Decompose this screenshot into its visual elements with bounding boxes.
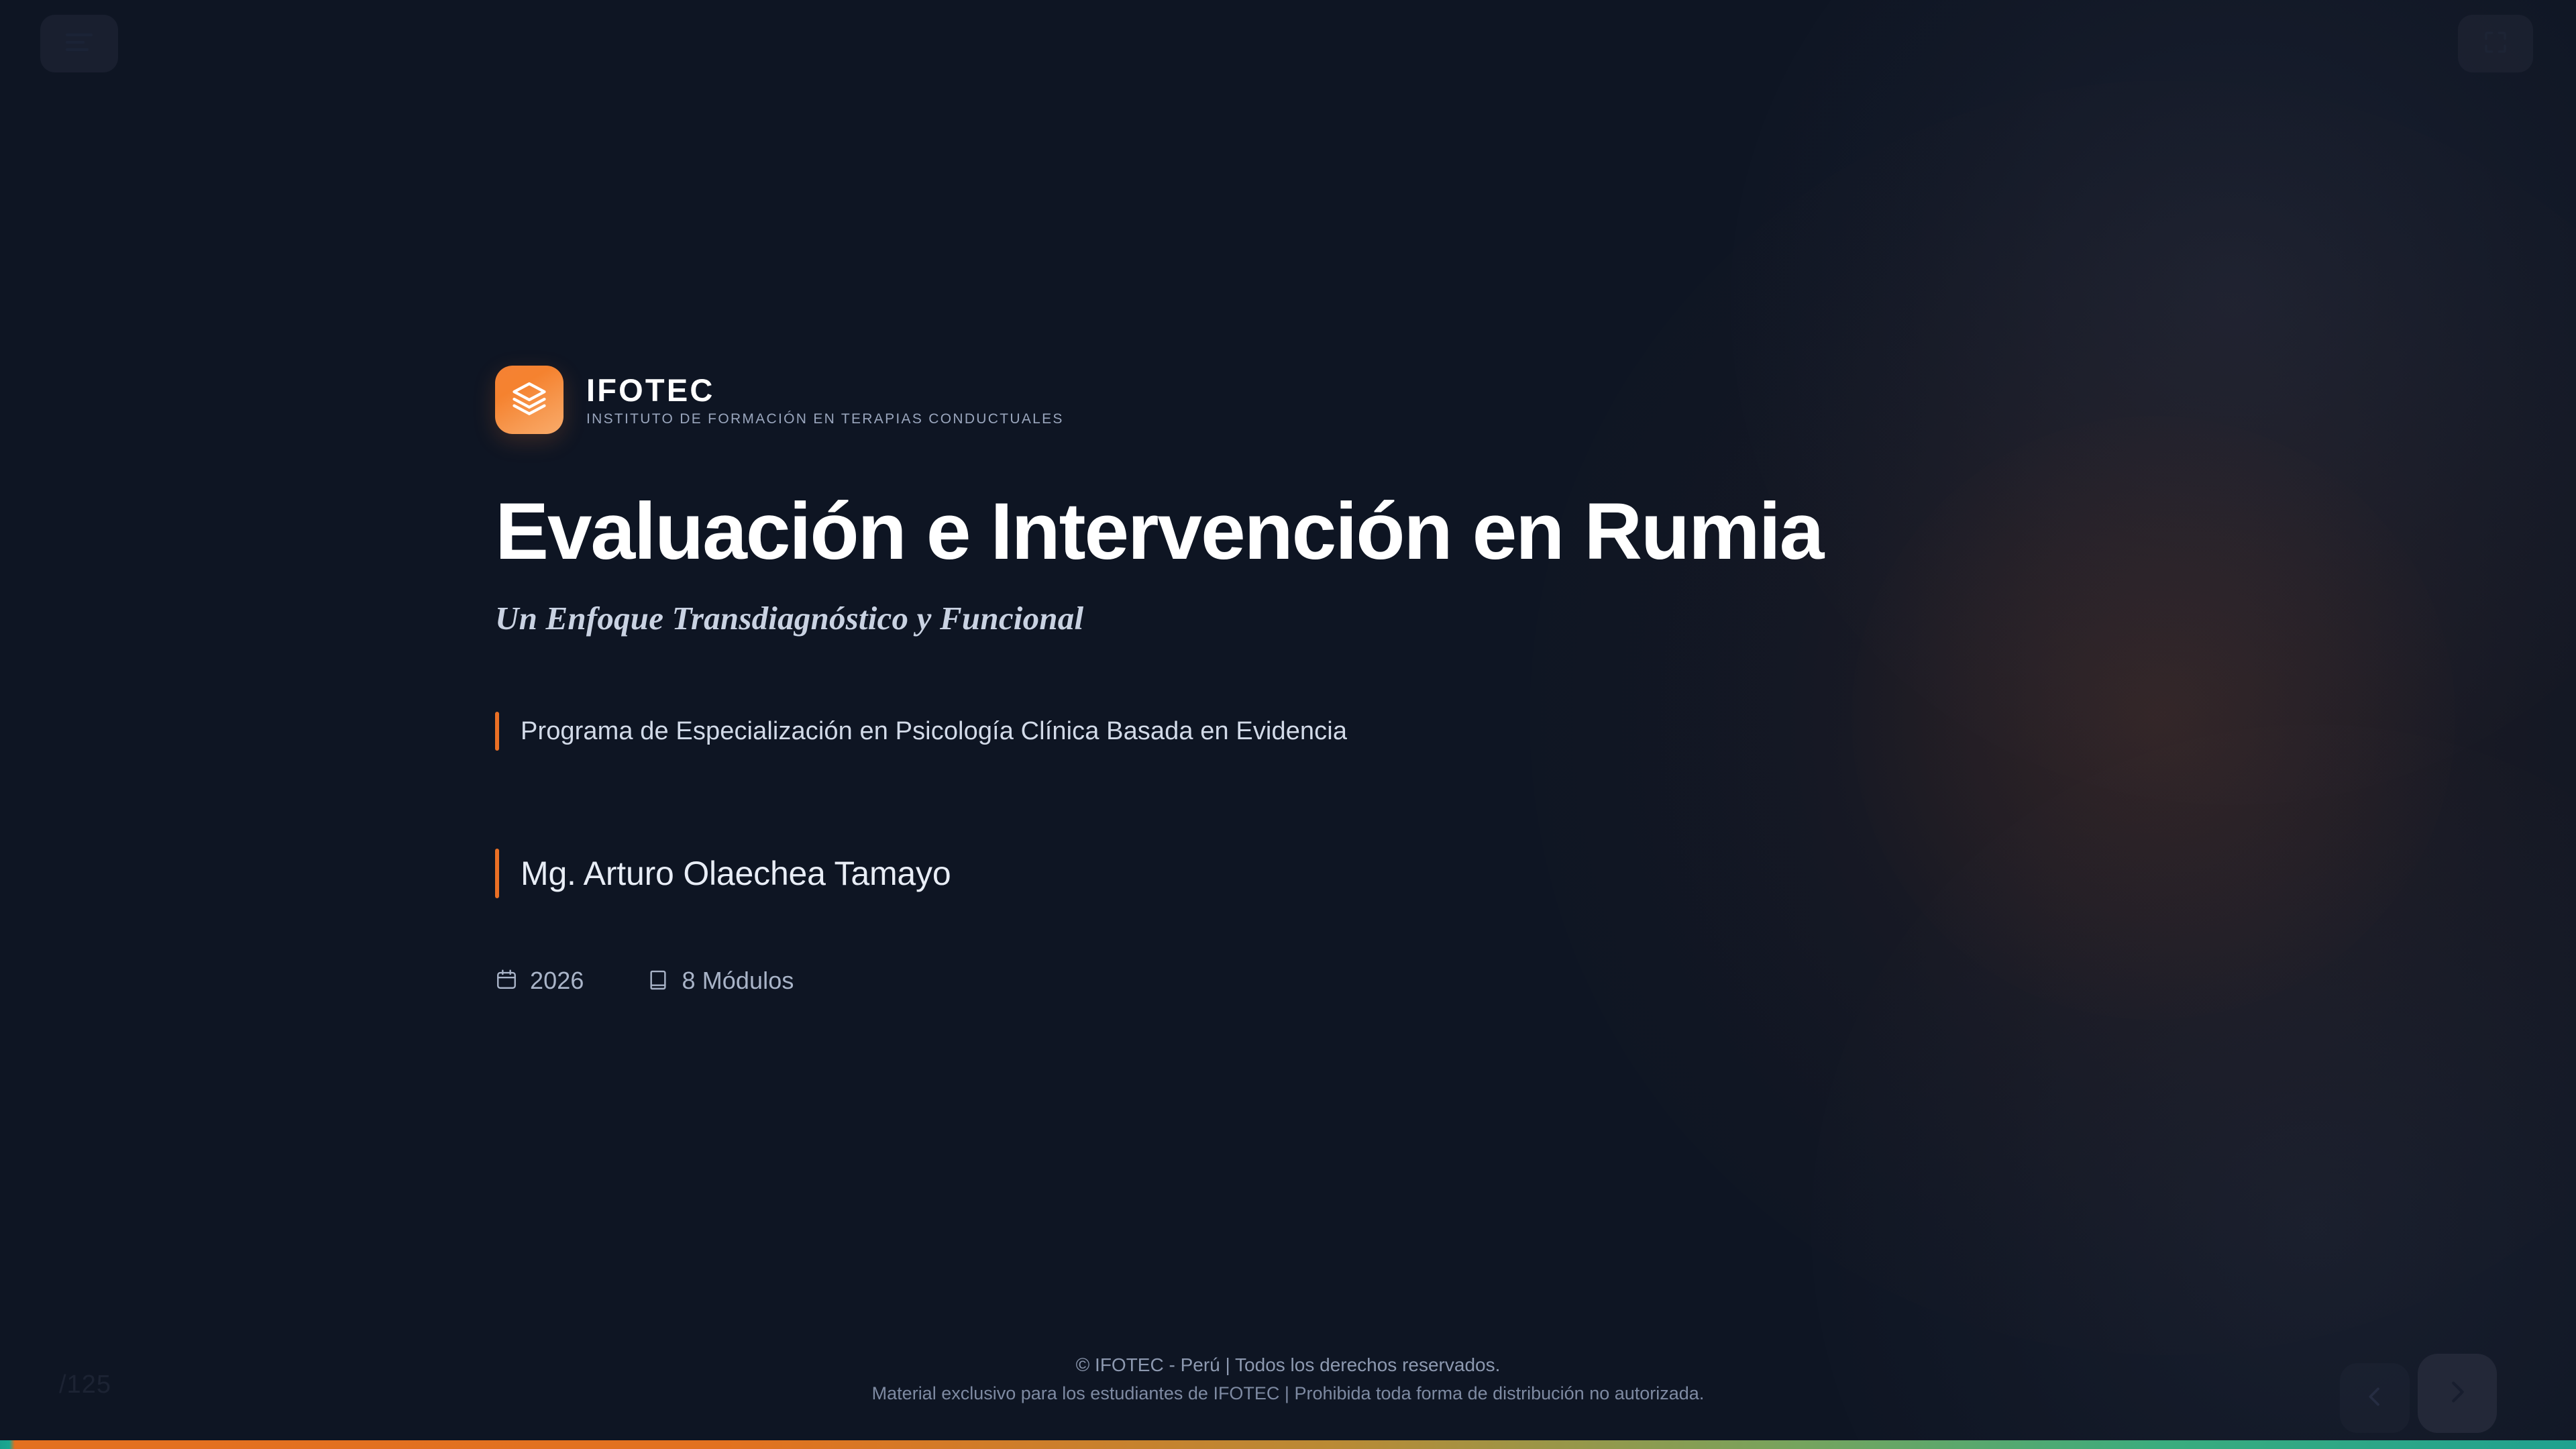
program-label: Programa de Especialización en Psicologí… [521, 717, 1347, 746]
presentation-slide: /125 IFOTEC INSTITUTO DE FORMACIÓN EN T [0, 0, 2576, 1449]
chevron-right-icon [2442, 1377, 2473, 1411]
author-name: Mg. Arturo Olaechea Tamayo [521, 854, 951, 893]
program-text-wrap: Programa de Especialización en Psicologí… [499, 712, 1347, 751]
chevron-left-icon [2361, 1383, 2388, 1413]
layers-icon [509, 378, 549, 422]
meta-item-year: 2026 [495, 967, 584, 995]
slide-title: Evaluación e Intervención en Rumia [495, 490, 1837, 572]
menu-button[interactable] [40, 15, 118, 72]
background-glow-bottom-right [1811, 724, 2576, 1449]
meta-label-year: 2026 [530, 967, 584, 995]
fullscreen-expand-icon [2481, 28, 2510, 60]
brand-tagline: INSTITUTO DE FORMACIÓN EN TERAPIAS CONDU… [586, 412, 1064, 426]
slide-content: IFOTEC INSTITUTO DE FORMACIÓN EN TERAPIA… [495, 366, 1837, 995]
brand-name: IFOTEC [586, 374, 1064, 406]
program-row: Programa de Especialización en Psicologí… [495, 712, 1837, 751]
slide-subtitle: Un Enfoque Transdiagnóstico y Funcional [495, 600, 1837, 637]
menu-list-icon [64, 31, 94, 57]
book-icon [647, 968, 670, 994]
brand-logo [495, 366, 563, 434]
background-glow-warm-inner [1851, 416, 2455, 1020]
author-text-wrap: Mg. Arturo Olaechea Tamayo [499, 849, 951, 898]
previous-slide-button[interactable] [2340, 1363, 2410, 1433]
meta-item-modules: 8 Módulos [647, 967, 794, 995]
footer: © IFOTEC - Perú | Todos los derechos res… [0, 1351, 2576, 1407]
background-glow-top-right [1731, 0, 2576, 805]
meta-label-modules: 8 Módulos [682, 967, 794, 995]
footer-copyright: © IFOTEC - Perú | Todos los derechos res… [0, 1351, 2576, 1380]
calendar-icon [495, 968, 518, 994]
brand-lockup: IFOTEC INSTITUTO DE FORMACIÓN EN TERAPIA… [495, 366, 1837, 434]
brand-text-block: IFOTEC INSTITUTO DE FORMACIÓN EN TERAPIA… [586, 374, 1064, 426]
slide-progress-bar[interactable] [0, 1440, 2576, 1449]
meta-row: 2026 8 Módulos [495, 967, 1837, 995]
page-counter: /125 [59, 1371, 111, 1399]
fullscreen-button[interactable] [2458, 15, 2533, 72]
author-row: Mg. Arturo Olaechea Tamayo [495, 849, 1837, 898]
next-slide-button[interactable] [2418, 1354, 2497, 1433]
footer-notice: Material exclusivo para los estudiantes … [0, 1380, 2576, 1407]
